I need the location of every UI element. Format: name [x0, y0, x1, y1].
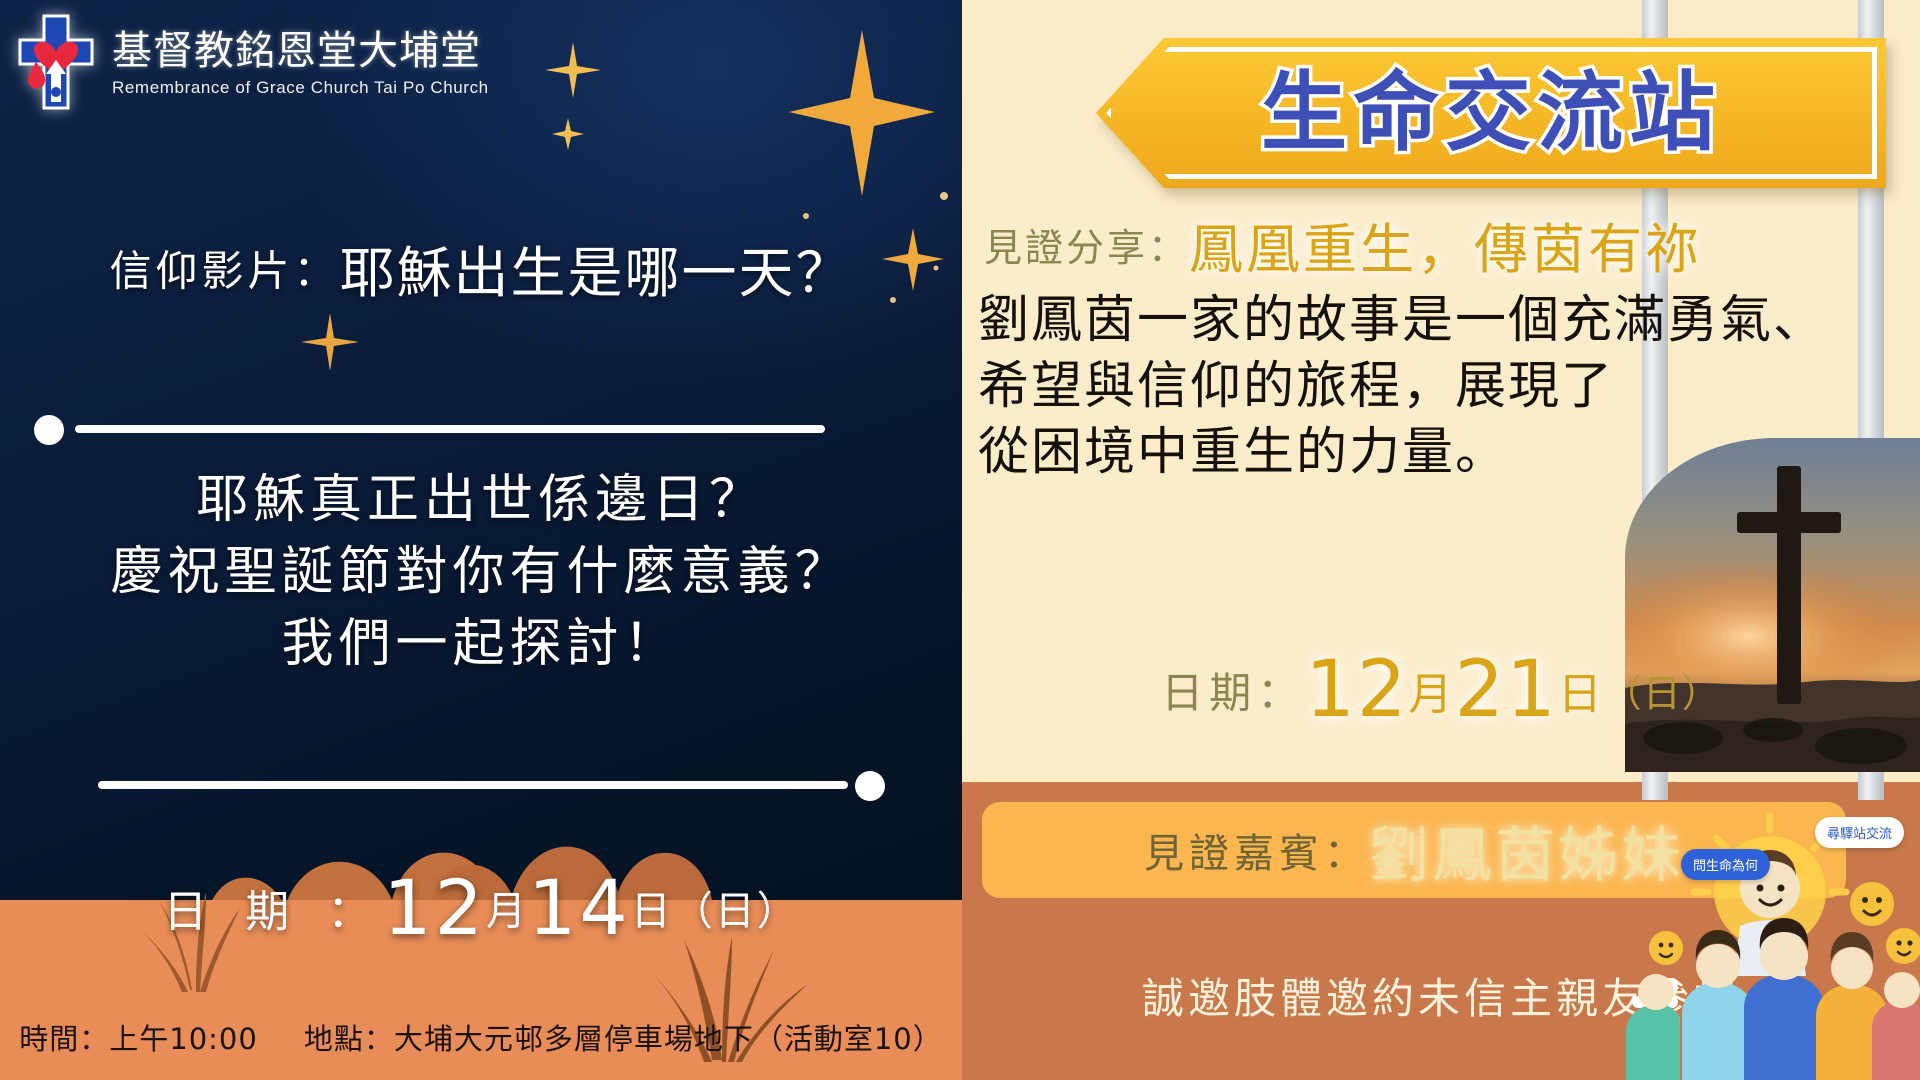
right-date-day-unit: 日 [1558, 669, 1604, 720]
left-headline-value: 耶穌出生是哪一天？ [340, 241, 853, 305]
left-venue: 地點：大埔大元邨多層停車場地下（活動室10） [304, 1022, 943, 1056]
divider-dot-top [34, 415, 64, 445]
left-footer: 時間：上午10:00地點：大埔大元邨多層停車場地下（活動室10） [0, 1016, 962, 1058]
guest-label: 見證嘉賓： [1144, 821, 1369, 879]
left-body-line: 耶穌真正出世係邊日？ [0, 465, 962, 537]
church-logo: 基督教銘恩堂大埔堂 Remembrance of Grace Church Ta… [14, 14, 489, 110]
left-headline: 信仰影片：耶穌出生是哪一天？ [0, 228, 962, 308]
right-subtitle: 見證分享：鳳凰重生，傳茵有祢 [962, 205, 1920, 284]
chip-station: 尋驛站交流 [1815, 817, 1904, 848]
divider-rule-top [75, 425, 825, 433]
right-body-line: 希望與信仰的旅程，展現了 [978, 354, 1826, 420]
cross-heart-blooddrop-logo-icon [14, 14, 98, 110]
left-headline-label: 信仰影片： [109, 247, 339, 296]
left-date-weekday: （日） [673, 889, 799, 935]
left-date-label: 日 期 ： [163, 887, 383, 938]
right-date-month: 12 [1305, 645, 1408, 735]
right-subtitle-label: 見證分享： [984, 226, 1189, 270]
banner-title-text: 生命交流站 [1261, 70, 1721, 156]
left-date-day: 14 [528, 863, 631, 952]
right-subtitle-value: 鳳凰重生，傳茵有祢 [1189, 218, 1702, 281]
left-time: 時間：上午10:00 [19, 1022, 258, 1056]
left-panel: 基督教銘恩堂大埔堂 Remembrance of Grace Church Ta… [0, 0, 962, 1080]
left-body-line: 我們一起探討！ [0, 609, 962, 681]
right-date: 日期：12月21日（日） [962, 645, 1920, 735]
left-date-day-unit: 日 [631, 889, 673, 935]
left-date: 日 期 ：12月14日（日） [0, 863, 962, 952]
left-body: 耶穌真正出世係邊日？ 慶祝聖誕節對你有什麼意義？ 我們一起探討！ [0, 465, 962, 680]
divider-rule-bottom [98, 781, 848, 789]
left-body-line: 慶祝聖誕節對你有什麼意義？ [0, 537, 962, 609]
right-date-day: 21 [1455, 645, 1558, 735]
church-name-en: Remembrance of Grace Church Tai Po Churc… [112, 78, 489, 98]
chip-question: 問生命為何 [1681, 849, 1770, 880]
right-panel: 生命交流站 見證分享：鳳凰重生，傳茵有祢 劉鳳茵一家的故事是一個充滿勇氣、 希望… [962, 0, 1920, 1080]
left-date-month: 12 [383, 863, 486, 952]
divider-dot-bottom [855, 771, 885, 801]
right-date-weekday: （日） [1604, 672, 1721, 716]
left-date-month-unit: 月 [486, 889, 528, 935]
right-body-line: 劉鳳茵一家的故事是一個充滿勇氣、 [978, 288, 1826, 354]
church-name-cn: 基督教銘恩堂大埔堂 [112, 30, 489, 73]
right-date-label: 日期： [1161, 669, 1305, 718]
poster-root: 基督教銘恩堂大埔堂 Remembrance of Grace Church Ta… [0, 0, 1920, 1080]
title-banner: 生命交流站 [1096, 38, 1886, 188]
right-date-month-unit: 月 [1409, 669, 1455, 720]
